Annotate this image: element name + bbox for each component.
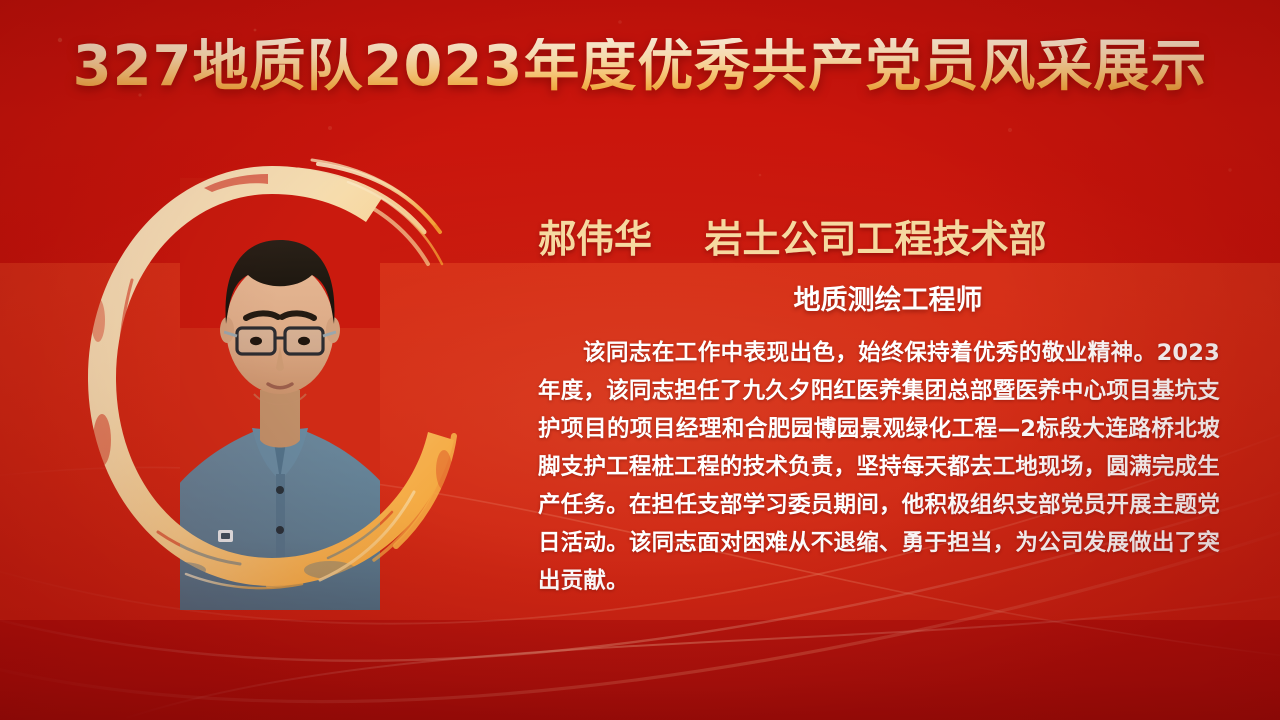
person-role: 地质测绘工程师	[538, 278, 1238, 317]
person-department: 岩土公司工程技术部	[704, 217, 1046, 261]
background-band-bottom	[0, 620, 1280, 720]
person-bio: 该同志在工作中表现出色，始终保持着优秀的敬业精神。2023年度，该同志担任了九久…	[538, 334, 1220, 600]
person-identity: 郝伟华 岩土公司工程技术部	[538, 208, 1238, 263]
portrait-block	[62, 140, 482, 610]
person-name: 郝伟华	[538, 217, 652, 261]
brush-circle-icon	[62, 140, 482, 610]
page-title: 327地质队2023年度优秀共产党员风采展示	[0, 38, 1280, 97]
slide-canvas: 327地质队2023年度优秀共产党员风采展示	[0, 0, 1280, 720]
